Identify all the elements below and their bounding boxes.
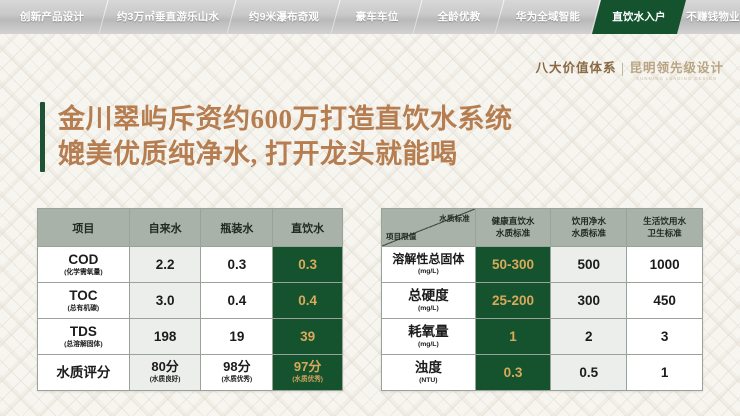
- nav-tab-label: 不赚钱物业: [686, 12, 740, 23]
- table-body: 溶解性总固体 (mg/L) 50-300 500 1000 总硬度 (mg/L)…: [382, 247, 703, 391]
- row-subname: (化学需氧量): [38, 269, 129, 277]
- cell-domestic-oxygen: 3: [627, 319, 703, 355]
- table-head: 水质标准 项目限值 健康直饮水 水质标准 饮用净水 水质标准 生活饮用水 卫生标…: [382, 209, 703, 247]
- row-name: TDS: [38, 324, 129, 340]
- col-header-purified-water: 饮用净水 水质标准: [551, 209, 627, 247]
- cell-bottled-score: 98分 (水质优秀): [201, 355, 273, 391]
- headline-block: 金川翠屿斥资约600万打造直饮水系统 媲美优质纯净水, 打开龙头就能喝: [40, 102, 513, 172]
- cell-tap-toc: 3.0: [129, 283, 201, 319]
- row-name: TOC: [38, 288, 129, 304]
- row-label-turbidity: 浊度 (NTU): [382, 355, 476, 391]
- col-header-direct-drinking-water: 直饮水: [273, 209, 343, 247]
- nav-tab-3[interactable]: 豪车车位: [336, 0, 418, 34]
- row-subname: (总溶解固体): [38, 341, 129, 349]
- nav-tab-1[interactable]: 约3万㎡垂直游乐山水: [104, 0, 232, 34]
- score-value: 97分: [273, 360, 342, 375]
- nav-tab-4[interactable]: 全龄优教: [418, 0, 500, 34]
- cell-domestic-tds: 1000: [627, 247, 703, 283]
- nav-tab-label: 约9米瀑布奇观: [249, 12, 319, 23]
- comparison-table: 项目 自来水 瓶装水 直饮水 COD (化学需氧量) 2.2 0.3 0.3: [37, 208, 343, 391]
- header-line-1: 饮用净水: [551, 216, 626, 227]
- row-label-tds: TDS (总溶解固体): [38, 319, 130, 355]
- header-line-2: 水质标准: [476, 228, 551, 239]
- nav-tab-0[interactable]: 创新产品设计: [0, 0, 104, 34]
- table-row: TOC (总有机碳) 3.0 0.4 0.4: [38, 283, 343, 319]
- row-label-hardness: 总硬度 (mg/L): [382, 283, 476, 319]
- row-label-tds-dissolved: 溶解性总固体 (mg/L): [382, 247, 476, 283]
- cell-purified-hardness: 300: [551, 283, 627, 319]
- cell-bottled-toc: 0.4: [201, 283, 273, 319]
- brand-sub-group: 昆明领先级设计 KUNMING LEADING DESIGN: [629, 62, 724, 81]
- cell-domestic-hardness: 450: [627, 283, 703, 319]
- table-head: 项目 自来水 瓶装水 直饮水: [38, 209, 343, 247]
- corner-label-standard: 水质标准: [439, 213, 469, 224]
- row-unit: (mg/L): [382, 305, 475, 313]
- water-standards-table: 水质标准 项目限值 健康直饮水 水质标准 饮用净水 水质标准 生活饮用水 卫生标…: [381, 208, 703, 391]
- top-navigation-bar: 创新产品设计 约3万㎡垂直游乐山水 约9米瀑布奇观 豪车车位 全龄优教 华为全域…: [0, 0, 740, 34]
- table-header-row: 水质标准 项目限值 健康直饮水 水质标准 饮用净水 水质标准 生活饮用水 卫生标…: [382, 209, 703, 247]
- score-note: (水质优秀): [273, 376, 342, 384]
- row-name: COD: [38, 252, 129, 268]
- cell-direct-cod: 0.3: [273, 247, 343, 283]
- row-label-toc: TOC (总有机碳): [38, 283, 130, 319]
- col-header-tap-water: 自来水: [129, 209, 201, 247]
- row-name: 耗氧量: [382, 324, 475, 340]
- header-line-1: 健康直饮水: [476, 216, 551, 227]
- brand-english-text: KUNMING LEADING DESIGN: [636, 77, 717, 81]
- row-unit: (mg/L): [382, 341, 475, 349]
- nav-tab-2[interactable]: 约9米瀑布奇观: [232, 0, 336, 34]
- table-row: 浊度 (NTU) 0.3 0.5 1: [382, 355, 703, 391]
- cell-healthy-turbidity: 0.3: [475, 355, 551, 391]
- cell-direct-toc: 0.4: [273, 283, 343, 319]
- col-header-bottled-water: 瓶装水: [201, 209, 273, 247]
- nav-tab-label: 约3万㎡垂直游乐山水: [117, 12, 219, 23]
- header-line-1: 生活饮用水: [627, 216, 702, 227]
- table-row: COD (化学需氧量) 2.2 0.3 0.3: [38, 247, 343, 283]
- score-note: (水质优秀): [201, 376, 272, 384]
- row-label-cod: COD (化学需氧量): [38, 247, 130, 283]
- corner-header-cell: 水质标准 项目限值: [382, 209, 476, 247]
- score-note: (水质良好): [130, 376, 201, 384]
- brand-main-text: 八大价值体系: [535, 62, 616, 75]
- headline-line-2: 媲美优质纯净水, 打开龙头就能喝: [58, 137, 513, 172]
- row-name: 浊度: [382, 360, 475, 376]
- cell-domestic-turbidity: 1: [627, 355, 703, 391]
- row-label-oxygen-consumption: 耗氧量 (mg/L): [382, 319, 476, 355]
- nav-tab-5[interactable]: 华为全域智能: [500, 0, 596, 34]
- row-name: 溶解性总固体: [382, 253, 475, 267]
- score-value: 80分: [130, 360, 201, 375]
- col-header-healthy-direct-water: 健康直饮水 水质标准: [475, 209, 551, 247]
- cell-healthy-hardness: 25-200: [475, 283, 551, 319]
- nav-tab-label: 豪车车位: [356, 12, 399, 23]
- cell-bottled-tds: 19: [201, 319, 273, 355]
- row-name: 总硬度: [382, 288, 475, 304]
- slide-root: 创新产品设计 约3万㎡垂直游乐山水 约9米瀑布奇观 豪车车位 全龄优教 华为全域…: [0, 0, 740, 416]
- brand-mark: 八大价值体系 昆明领先级设计 KUNMING LEADING DESIGN: [535, 62, 724, 81]
- col-header-item: 项目: [38, 209, 130, 247]
- header-line-2: 水质标准: [551, 228, 626, 239]
- corner-label-limit: 项目限值: [386, 231, 416, 242]
- water-comparison-table: 项目 自来水 瓶装水 直饮水 COD (化学需氧量) 2.2 0.3 0.3: [37, 208, 343, 391]
- nav-tab-6-selected[interactable]: 直饮水入户: [592, 0, 686, 34]
- cell-purified-tds: 500: [551, 247, 627, 283]
- row-name: 水质评分: [38, 365, 129, 381]
- cell-bottled-cod: 0.3: [201, 247, 273, 283]
- cell-direct-tds: 39: [273, 319, 343, 355]
- table-row: 水质评分 80分 (水质良好) 98分 (水质优秀) 97分 (水质优秀): [38, 355, 343, 391]
- headline-accent-bar: [40, 102, 45, 172]
- row-unit: (NTU): [382, 377, 475, 385]
- nav-tab-label: 华为全域智能: [516, 12, 580, 23]
- header-line-2: 卫生标准: [627, 228, 702, 239]
- cell-tap-cod: 2.2: [129, 247, 201, 283]
- table-row: 总硬度 (mg/L) 25-200 300 450: [382, 283, 703, 319]
- headline-line-1: 金川翠屿斥资约600万打造直饮水系统: [58, 102, 513, 137]
- headline-text: 金川翠屿斥资约600万打造直饮水系统 媲美优质纯净水, 打开龙头就能喝: [58, 102, 513, 172]
- cell-healthy-tds: 50-300: [475, 247, 551, 283]
- nav-tab-label: 直饮水入户: [612, 12, 666, 23]
- nav-tab-label: 创新产品设计: [20, 12, 84, 23]
- brand-sub-text: 昆明领先级设计: [629, 62, 724, 75]
- table-row: 耗氧量 (mg/L) 1 2 3: [382, 319, 703, 355]
- row-unit: (mg/L): [382, 268, 475, 276]
- cell-tap-tds: 198: [129, 319, 201, 355]
- table-row: TDS (总溶解固体) 198 19 39: [38, 319, 343, 355]
- row-subname: (总有机碳): [38, 305, 129, 313]
- cell-tap-score: 80分 (水质良好): [129, 355, 201, 391]
- score-value: 98分: [201, 360, 272, 375]
- cell-purified-oxygen: 2: [551, 319, 627, 355]
- table-header-row: 项目 自来水 瓶装水 直饮水: [38, 209, 343, 247]
- brand-divider: [622, 63, 623, 76]
- nav-tab-7[interactable]: 不赚钱物业: [686, 0, 740, 34]
- table-row: 溶解性总固体 (mg/L) 50-300 500 1000: [382, 247, 703, 283]
- row-label-score: 水质评分: [38, 355, 130, 391]
- standards-table: 水质标准 项目限值 健康直饮水 水质标准 饮用净水 水质标准 生活饮用水 卫生标…: [381, 208, 703, 391]
- cell-purified-turbidity: 0.5: [551, 355, 627, 391]
- col-header-domestic-water: 生活饮用水 卫生标准: [627, 209, 703, 247]
- table-body: COD (化学需氧量) 2.2 0.3 0.3 TOC (总有机碳) 3.0 0…: [38, 247, 343, 391]
- cell-healthy-oxygen: 1: [475, 319, 551, 355]
- nav-tab-label: 全龄优教: [438, 12, 481, 23]
- cell-direct-score: 97分 (水质优秀): [273, 355, 343, 391]
